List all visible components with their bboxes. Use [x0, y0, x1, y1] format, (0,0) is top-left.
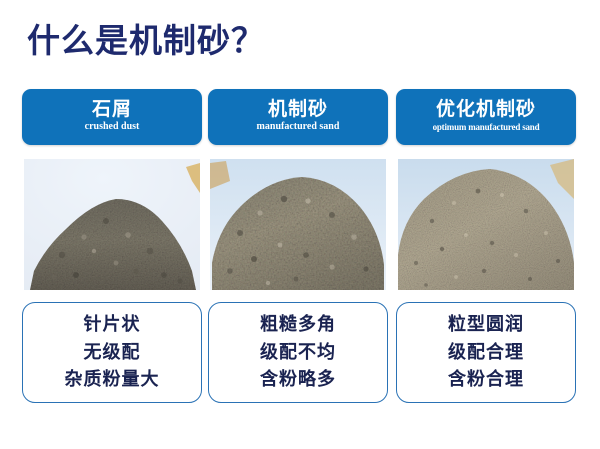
header-title-en: manufactured sand [257, 122, 340, 132]
feature-line: 无级配 [84, 339, 141, 366]
header-box-manufactured-sand[interactable]: 机制砂 manufactured sand [208, 89, 388, 145]
feature-line: 粗糙多角 [260, 311, 336, 338]
feature-line: 针片状 [84, 311, 141, 338]
feature-line: 级配不均 [260, 339, 336, 366]
crushed-dust-pile-photo [24, 159, 200, 290]
header-box-crushed-dust[interactable]: 石屑 crushed dust [22, 89, 202, 145]
header-title-cn: 优化机制砂 [436, 100, 536, 120]
feature-box-manufactured-sand[interactable]: 粗糙多角 级配不均 含粉略多 [208, 302, 388, 403]
feature-line: 杂质粉量大 [65, 366, 160, 393]
comparison-column-optimum-manufactured-sand: 优化机制砂 optimum manufactured sand [396, 89, 576, 409]
feature-line: 含粉略多 [260, 366, 336, 393]
manufactured-sand-pile-photo [210, 159, 386, 290]
feature-line: 粒型圆润 [448, 311, 524, 338]
comparison-columns: 石屑 crushed dust [0, 89, 600, 409]
feature-box-crushed-dust[interactable]: 针片状 无级配 杂质粉量大 [22, 302, 202, 403]
header-box-optimum-manufactured-sand[interactable]: 优化机制砂 optimum manufactured sand [396, 89, 576, 145]
comparison-column-crushed-dust: 石屑 crushed dust [22, 89, 202, 409]
header-title-cn: 石屑 [92, 100, 132, 120]
header-title-cn: 机制砂 [268, 100, 328, 120]
optimum-manufactured-sand-pile-photo [398, 159, 574, 290]
page-title: 什么是机制砂？ [27, 22, 265, 63]
header-title-en: optimum manufactured sand [433, 123, 540, 132]
feature-line: 含粉合理 [448, 366, 524, 393]
header-title-en: crushed dust [85, 122, 140, 132]
feature-box-optimum-manufactured-sand[interactable]: 粒型圆润 级配合理 含粉合理 [396, 302, 576, 403]
feature-line: 级配合理 [448, 339, 524, 366]
comparison-column-manufactured-sand: 机制砂 manufactured sand [208, 89, 388, 409]
